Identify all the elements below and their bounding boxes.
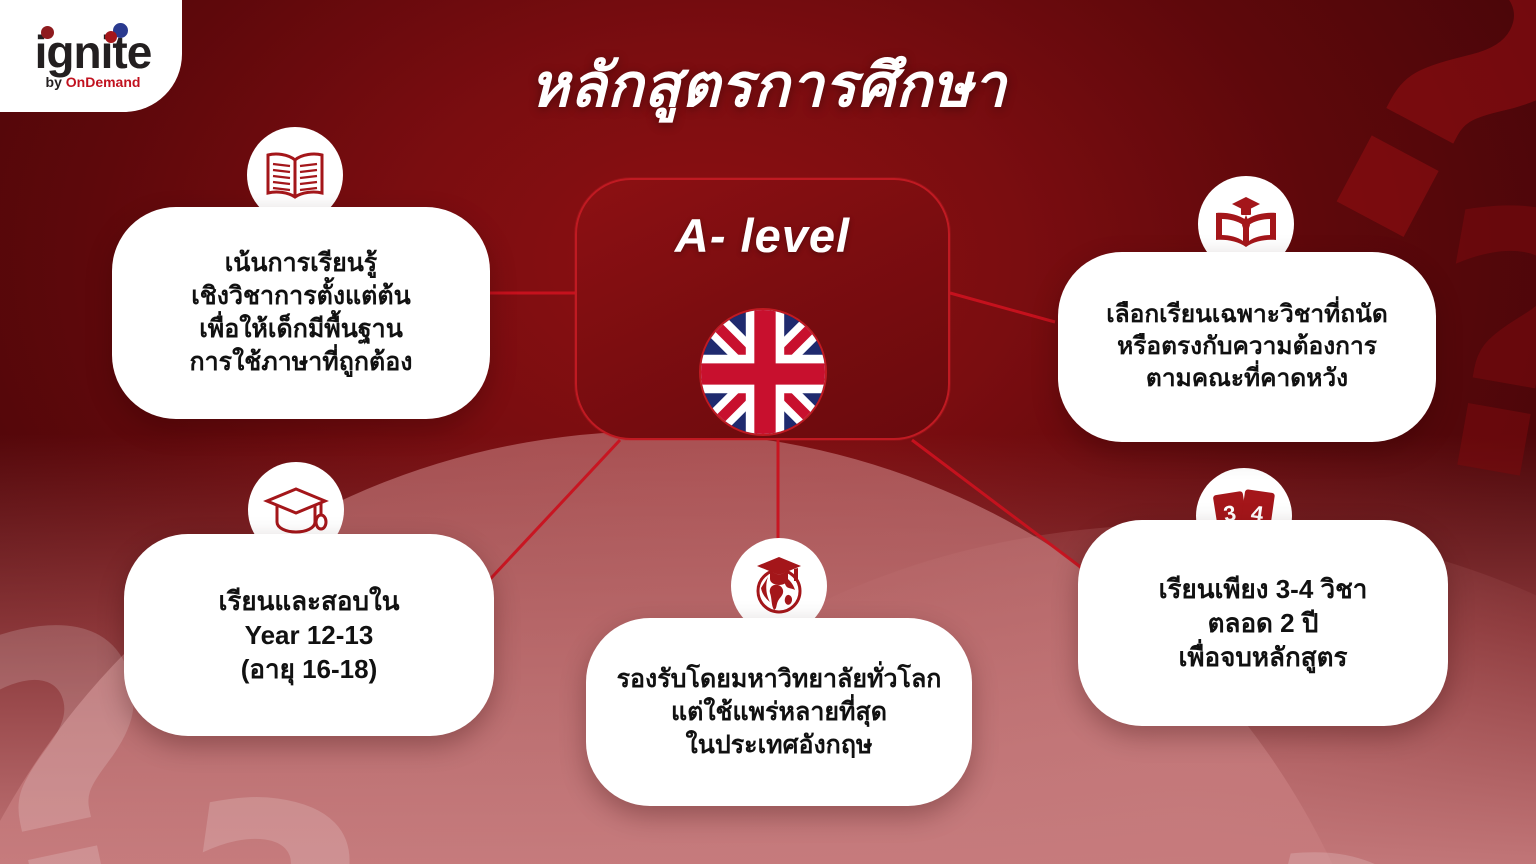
card-line: เชิงวิชาการตั้งแต่ต้น	[189, 280, 412, 313]
info-card-text: เน้นการเรียนรู้ เชิงวิชาการตั้งแต่ต้น เพ…	[171, 247, 430, 379]
info-card-bottom-left[interactable]: เรียนและสอบใน Year 12-13 (อายุ 16-18)	[124, 534, 494, 736]
card-line: เรียนและสอบใน	[219, 584, 400, 618]
page-title: หลักสูตรการศึกษา	[0, 38, 1536, 133]
logo-wordmark: ignite	[35, 32, 152, 73]
card-line: เน้นการเรียนรู้	[189, 247, 412, 280]
card-line: เลือกเรียนเฉพาะวิชาที่ถนัด	[1106, 299, 1388, 331]
infographic-canvas: ? ? ? ? ? ignite by OnDema	[0, 0, 1536, 864]
card-line: เพื่อจบหลักสูตร	[1159, 640, 1368, 674]
info-card-top-left[interactable]: เน้นการเรียนรู้ เชิงวิชาการตั้งแต่ต้น เพ…	[112, 207, 490, 419]
card-line: เรียนเพียง 3-4 วิชา	[1159, 572, 1368, 606]
info-card-text: รองรับโดยมหาวิทยาลัยทั่วโลก แต่ใช้แพร่หล…	[599, 663, 960, 762]
info-card-text: เรียนเพียง 3-4 วิชา ตลอด 2 ปี เพื่อจบหลั…	[1141, 572, 1386, 675]
info-card-bottom-right[interactable]: เรียนเพียง 3-4 วิชา ตลอด 2 ปี เพื่อจบหลั…	[1078, 520, 1448, 726]
card-line: หรือตรงกับความต้องการ	[1106, 331, 1388, 363]
info-card-top-right[interactable]: เลือกเรียนเฉพาะวิชาที่ถนัด หรือตรงกับควา…	[1058, 252, 1436, 442]
center-card-a-level[interactable]: A- level	[575, 178, 950, 440]
info-card-bottom-center[interactable]: รองรับโดยมหาวิทยาลัยทั่วโลก แต่ใช้แพร่หล…	[586, 618, 972, 806]
uk-flag-icon	[699, 308, 827, 436]
card-line: ตามคณะที่คาดหวัง	[1106, 363, 1388, 395]
card-line: Year 12-13	[219, 618, 400, 652]
brand-logo[interactable]: ignite by OnDemand	[0, 0, 182, 112]
card-line: เพื่อให้เด็กมีพื้นฐาน	[189, 313, 412, 346]
card-line: การใช้ภาษาที่ถูกต้อง	[189, 346, 412, 379]
card-line: รองรับโดยมหาวิทยาลัยทั่วโลก	[617, 663, 942, 696]
card-line: (อายุ 16-18)	[219, 652, 400, 686]
card-line: ตลอด 2 ปี	[1159, 606, 1368, 640]
logo-dot-crimson-icon	[105, 31, 117, 43]
info-card-text: เลือกเรียนเฉพาะวิชาที่ถนัด หรือตรงกับควา…	[1088, 299, 1406, 396]
info-card-text: เรียนและสอบใน Year 12-13 (อายุ 16-18)	[201, 584, 418, 687]
logo-dot-red-icon	[41, 26, 54, 39]
card-line: ในประเทศอังกฤษ	[617, 729, 942, 762]
card-line: แต่ใช้แพร่หลายที่สุด	[617, 696, 942, 729]
center-card-label: A- level	[577, 208, 948, 263]
